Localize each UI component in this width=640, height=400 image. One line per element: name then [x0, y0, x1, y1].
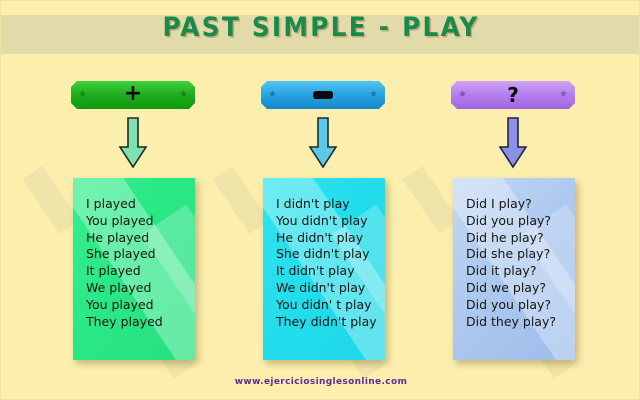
page-title: PAST SIMPLE - PLAY: [0, 12, 640, 43]
banner-affirmative: ★ + ★: [71, 81, 195, 109]
list-item: We played: [86, 280, 191, 297]
banner-negative: ★ ★: [261, 81, 385, 109]
list-item: Did it play?: [466, 263, 571, 280]
arrow-down-icon: [118, 117, 148, 169]
star-icon: ★: [369, 90, 378, 100]
sentence-list-negative: I didn't play You didn't play He didn't …: [276, 196, 381, 330]
list-item: You played: [86, 297, 191, 314]
sentence-list-interrogative: Did I play? Did you play? Did he play? D…: [466, 196, 571, 330]
question-mark-icon: ?: [467, 85, 559, 105]
arrow-down-icon: [308, 117, 338, 169]
star-icon: ★: [179, 90, 188, 100]
list-item: He didn't play: [276, 230, 381, 247]
list-item: You didn' t play: [276, 297, 381, 314]
tape-decoration: [213, 166, 270, 234]
column-affirmative: ★ + ★ I played You played He played She …: [45, 81, 221, 371]
star-icon: ★: [78, 90, 87, 100]
star-icon: ★: [458, 90, 467, 100]
tape-decoration: [23, 166, 80, 234]
star-icon: ★: [559, 90, 568, 100]
list-item: They played: [86, 314, 191, 331]
list-item: You didn't play: [276, 213, 381, 230]
list-item: You played: [86, 213, 191, 230]
note-affirmative: I played You played He played She played…: [73, 178, 195, 360]
column-negative: ★ ★ I didn't play You didn't play He did…: [235, 81, 411, 371]
list-item: Did he play?: [466, 230, 571, 247]
list-item: She didn't play: [276, 246, 381, 263]
column-interrogative: ★ ? ★ Did I play? Did you play? Did he p…: [425, 81, 601, 371]
list-item: Did I play?: [466, 196, 571, 213]
list-item: It didn't play: [276, 263, 381, 280]
list-item: I didn't play: [276, 196, 381, 213]
sentence-list-affirmative: I played You played He played She played…: [86, 196, 191, 330]
list-item: It played: [86, 263, 191, 280]
list-item: We didn't play: [276, 280, 381, 297]
list-item: Did we play?: [466, 280, 571, 297]
list-item: Did you play?: [466, 297, 571, 314]
list-item: I played: [86, 196, 191, 213]
list-item: He played: [86, 230, 191, 247]
star-icon: ★: [268, 90, 277, 100]
list-item: Did she play?: [466, 246, 571, 263]
minus-icon: [277, 91, 369, 99]
list-item: Did you play?: [466, 213, 571, 230]
note-negative: I didn't play You didn't play He didn't …: [263, 178, 385, 360]
infographic-canvas: PAST SIMPLE - PLAY ★ + ★ I played You pl…: [0, 0, 640, 400]
plus-icon: +: [87, 83, 179, 105]
footer-website-url[interactable]: www.ejerciciosinglesonline.com: [1, 377, 640, 387]
list-item: They didn't play: [276, 314, 381, 331]
note-interrogative: Did I play? Did you play? Did he play? D…: [453, 178, 575, 360]
list-item: She played: [86, 246, 191, 263]
banner-interrogative: ★ ? ★: [451, 81, 575, 109]
list-item: Did they play?: [466, 314, 571, 331]
arrow-down-icon: [498, 117, 528, 169]
tape-decoration: [403, 166, 460, 234]
